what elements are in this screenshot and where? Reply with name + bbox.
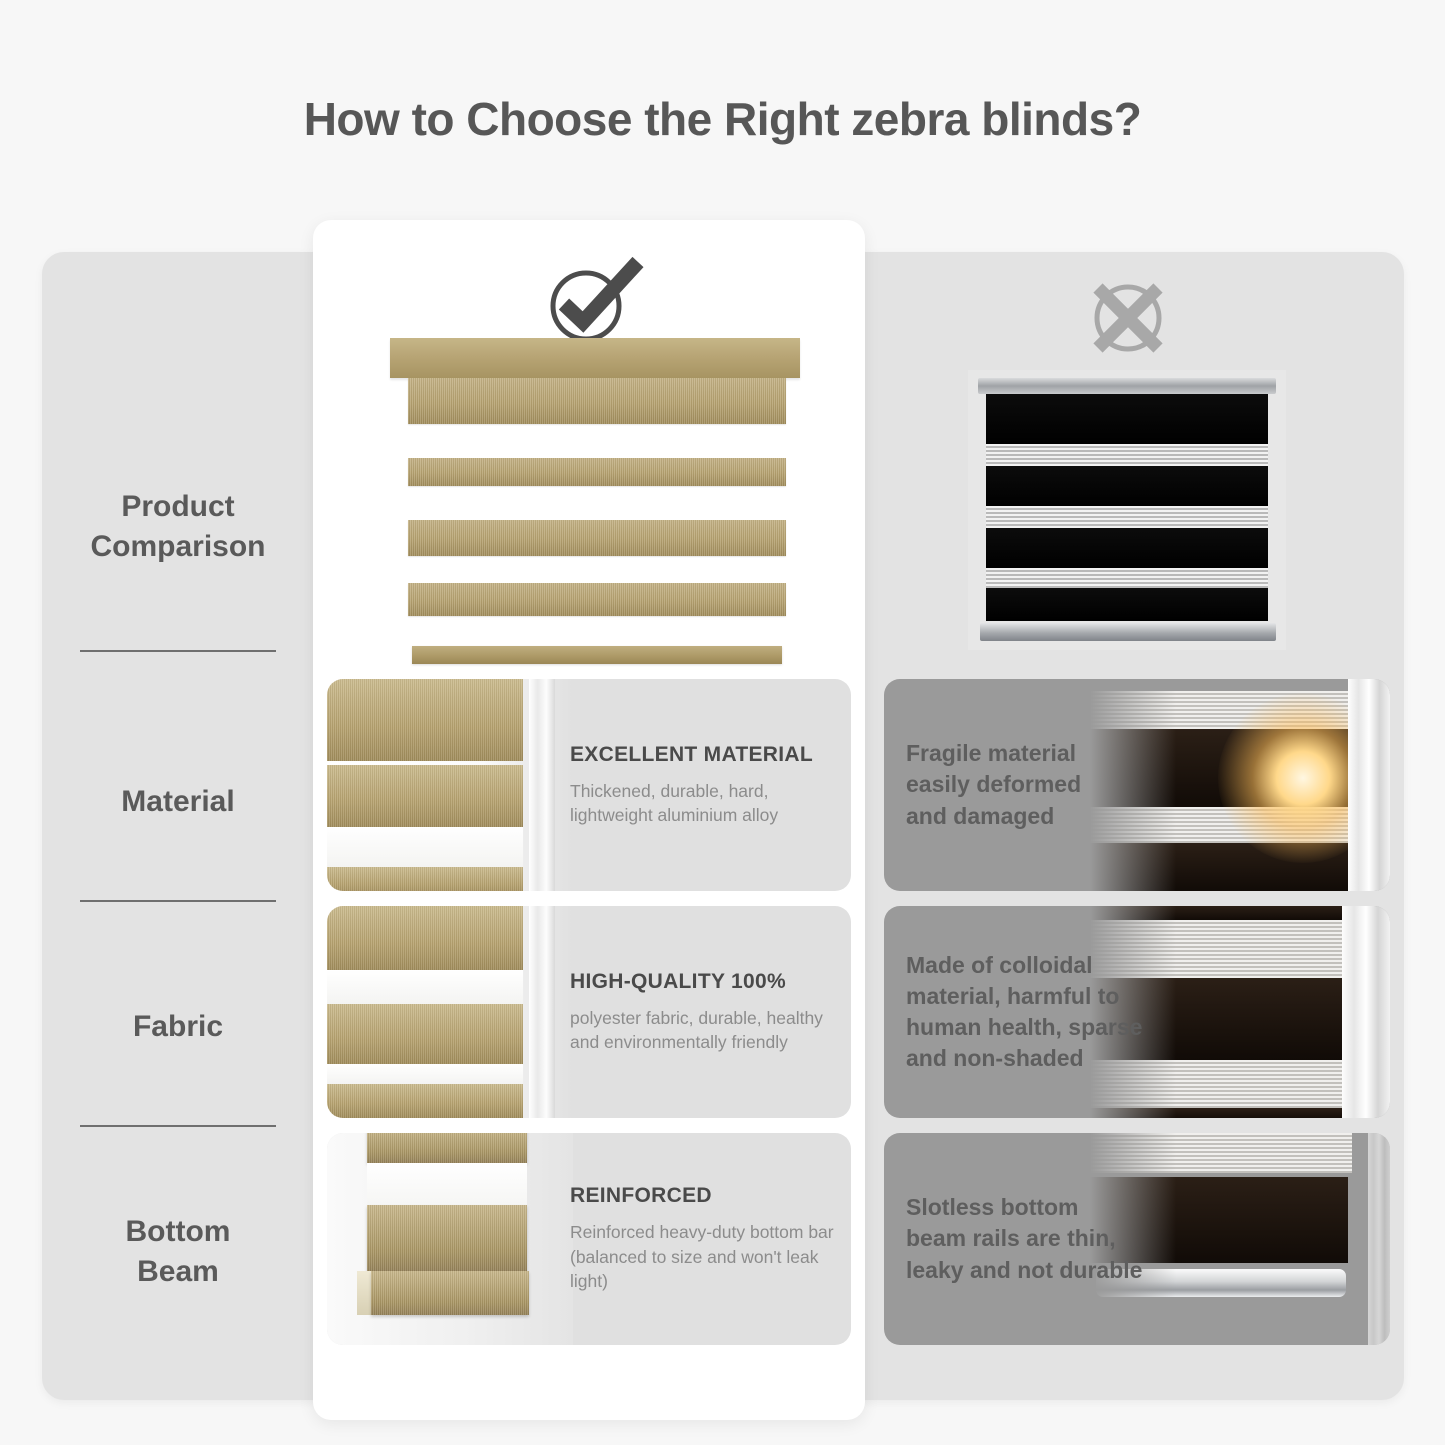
- feature-text-bottom-beam-bad: Slotless bottom beam rails are thin, lea…: [906, 1133, 1164, 1345]
- tan-band: [408, 458, 786, 486]
- black-band: [986, 528, 1268, 568]
- rail-label-line1: Material: [121, 782, 234, 823]
- feature-line: human health, sparse: [906, 1012, 1142, 1043]
- rail-divider: [80, 650, 276, 652]
- hero-image-black-zebra-blind: [968, 370, 1286, 650]
- hero-image-tan-zebra-blind: [390, 338, 800, 668]
- feature-text-material-bad: Fragile material easily deformed and dam…: [906, 679, 1164, 891]
- black-band: [986, 466, 1268, 506]
- rail-label-line2: Comparison: [90, 530, 265, 563]
- rail-label-line1: Fabric: [133, 1007, 223, 1048]
- feature-line: leaky and not durable: [906, 1255, 1142, 1286]
- photo-tan-fabric-window: [327, 906, 573, 1118]
- photo-tan-blind-window: [327, 679, 573, 891]
- category-rail: Product Comparison Material Fabric Botto…: [42, 252, 314, 1400]
- tan-headrail: [390, 338, 800, 378]
- feature-card-bottom-beam-good: REINFORCED Reinforced heavy-duty bottom …: [327, 1133, 851, 1345]
- sheer-band: [986, 506, 1268, 528]
- check-circle-icon: [534, 252, 664, 352]
- feature-card-material-bad: Fragile material easily deformed and dam…: [884, 679, 1390, 891]
- feature-title: EXCELLENT MATERIAL: [570, 743, 851, 767]
- feature-line: and damaged: [906, 801, 1081, 832]
- rail-label-line1: Bottom: [126, 1215, 231, 1248]
- feature-body: Reinforced heavy-duty bottom bar (balanc…: [570, 1220, 851, 1294]
- feature-card-fabric-bad: Made of colloidal material, harmful to h…: [884, 906, 1390, 1118]
- feature-text-fabric-bad: Made of colloidal material, harmful to h…: [906, 906, 1164, 1118]
- rail-divider: [80, 900, 276, 902]
- feature-body: polyester fabric, durable, healthy and e…: [570, 1006, 851, 1055]
- feature-title: REINFORCED: [570, 1184, 851, 1208]
- feature-card-material-good: EXCELLENT MATERIAL Thickened, durable, h…: [327, 679, 851, 891]
- sheer-band: [986, 444, 1268, 466]
- sheer-band: [986, 568, 1268, 588]
- feature-line: Slotless bottom: [906, 1192, 1142, 1223]
- feature-card-fabric-good: HIGH-QUALITY 100% polyester fabric, dura…: [327, 906, 851, 1118]
- black-band: [986, 394, 1268, 444]
- black-band: [986, 588, 1268, 621]
- feature-title: HIGH-QUALITY 100%: [570, 970, 851, 994]
- tan-band: [408, 520, 786, 556]
- feature-line: Made of colloidal: [906, 950, 1142, 981]
- rail-label-line1: Product: [121, 490, 234, 523]
- rail-divider: [80, 1125, 276, 1127]
- feature-text-material-good: EXCELLENT MATERIAL Thickened, durable, h…: [570, 679, 851, 891]
- rail-item-material: Material: [42, 687, 314, 917]
- black-headrail: [978, 378, 1276, 394]
- tan-bottom-bar: [412, 646, 782, 664]
- tan-band: [408, 378, 786, 424]
- page-title: How to Choose the Right zebra blinds?: [0, 92, 1445, 146]
- rail-item-product-comparison: Product Comparison: [42, 402, 314, 652]
- feature-line: easily deformed: [906, 769, 1081, 800]
- feature-line: material, harmful to: [906, 981, 1142, 1012]
- feature-line: beam rails are thin,: [906, 1223, 1142, 1254]
- rail-item-fabric: Fabric: [42, 912, 314, 1142]
- rail-label-line2: Beam: [137, 1255, 219, 1288]
- infographic-root: How to Choose the Right zebra blinds? Pr…: [0, 0, 1445, 1445]
- black-bottom-bar: [980, 623, 1276, 641]
- feature-card-bottom-beam-bad: Slotless bottom beam rails are thin, lea…: [884, 1133, 1390, 1345]
- feature-text-fabric-good: HIGH-QUALITY 100% polyester fabric, dura…: [570, 906, 851, 1118]
- feature-body: Thickened, durable, hard, lightweight al…: [570, 779, 851, 828]
- photo-reinforced-bottom-bar: [327, 1133, 573, 1345]
- x-circle-icon: [1078, 272, 1178, 364]
- rail-item-bottom-beam: Bottom Beam: [42, 1137, 314, 1367]
- tan-band: [408, 583, 786, 616]
- feature-text-bottom-beam-good: REINFORCED Reinforced heavy-duty bottom …: [570, 1133, 851, 1345]
- feature-line: Fragile material: [906, 738, 1081, 769]
- feature-line: and non-shaded: [906, 1043, 1142, 1074]
